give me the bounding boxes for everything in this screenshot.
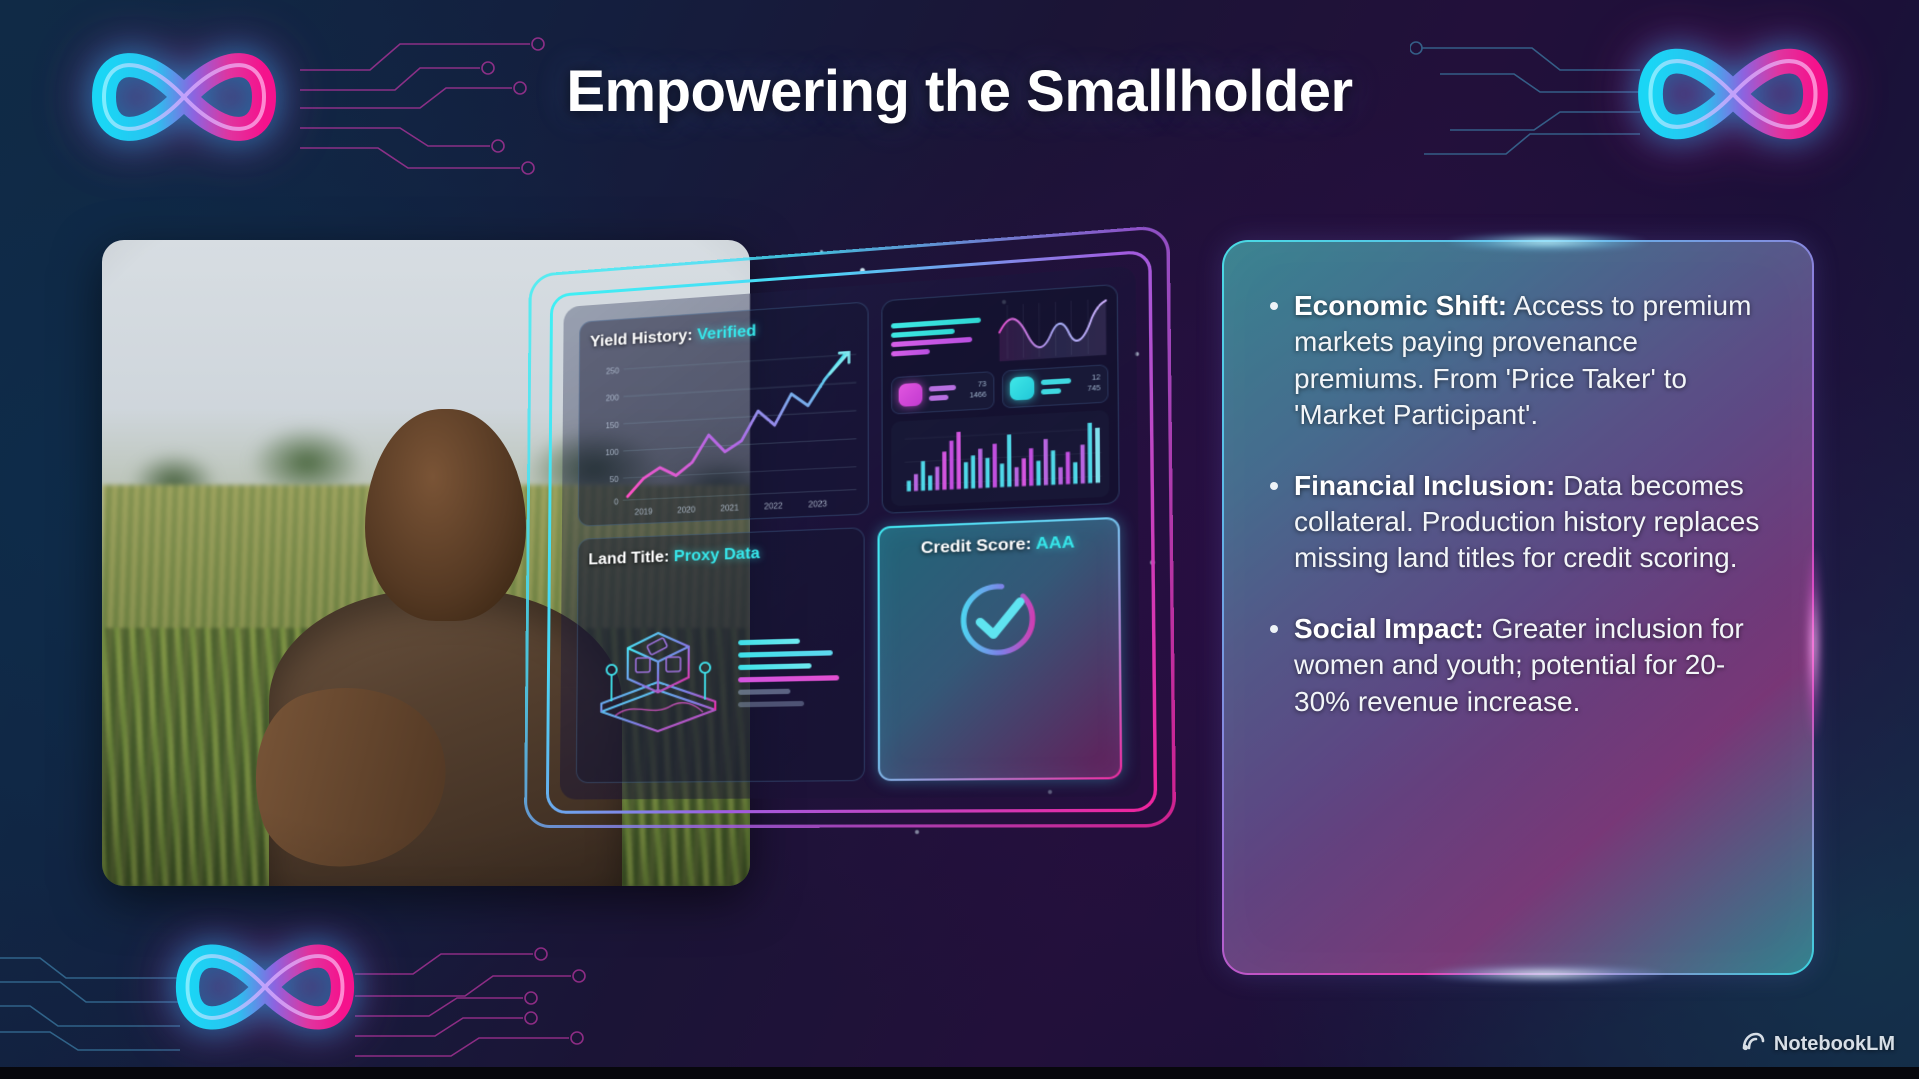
yield-label: Yield History:	[590, 327, 693, 351]
legend-bar	[891, 348, 930, 356]
svg-text:2021: 2021	[720, 503, 739, 513]
page-title: Empowering the Smallholder	[0, 58, 1919, 125]
infinity-logo-bottom-left	[110, 912, 420, 1062]
wave-trend-chart	[997, 294, 1108, 364]
stat-line	[928, 385, 956, 392]
stat-tile-magenta[interactable]: 731466	[891, 371, 995, 415]
record-bar	[738, 650, 832, 657]
bullet-dot	[1270, 625, 1278, 633]
record-bar	[738, 700, 804, 706]
record-bar	[738, 688, 790, 694]
land-label: Land Title:	[588, 548, 669, 568]
svg-text:2019: 2019	[635, 507, 653, 517]
legend-bar	[891, 336, 973, 346]
key-point-item: Economic Shift: Access to premium market…	[1258, 288, 1772, 434]
svg-text:2023: 2023	[808, 499, 827, 510]
svg-text:200: 200	[606, 393, 620, 403]
stat-tile-lines	[1041, 378, 1081, 395]
credit-score-panel[interactable]: Credit Score: AAA	[878, 517, 1123, 781]
record-bar	[738, 663, 811, 670]
card-glow-top	[1447, 233, 1647, 251]
credit-value: AAA	[1036, 534, 1075, 554]
analytics-panel[interactable]: 731466 12745	[881, 284, 1120, 514]
record-bar	[738, 675, 839, 682]
land-record-bars	[738, 637, 853, 707]
stat-tile-icon	[898, 383, 922, 407]
volume-bar-chart	[891, 410, 1110, 506]
holographic-dashboard: Yield History: Verified	[546, 249, 1158, 813]
yield-value: Verified	[697, 322, 756, 343]
key-point-lead: Social Impact:	[1294, 613, 1484, 644]
bullet-dot	[1270, 302, 1278, 310]
yield-history-chart: 250200 150100 500 20192020 20212022 2023	[589, 344, 859, 519]
land-title-panel[interactable]: Land Title: Proxy Data	[576, 527, 865, 783]
notebooklm-footer: NotebookLM	[1741, 1031, 1895, 1057]
stat-tile-icon	[1010, 376, 1035, 401]
notebooklm-wordmark: NotebookLM	[1774, 1033, 1895, 1056]
svg-text:50: 50	[610, 475, 619, 485]
svg-text:2022: 2022	[764, 501, 783, 512]
analytics-legend-bars	[891, 316, 989, 356]
stat-line	[928, 395, 948, 401]
card-glow-right	[1806, 549, 1822, 739]
slide-root: Empowering the Smallholder Yield Histo	[0, 0, 1919, 1079]
bullet-dot	[1270, 482, 1278, 490]
stat-tile-value: 12745	[1087, 373, 1100, 396]
sparkle	[915, 830, 919, 834]
key-points-list: Economic Shift: Access to premium market…	[1258, 288, 1772, 720]
svg-text:250: 250	[606, 366, 620, 376]
dashboard-surface: Yield History: Verified	[560, 266, 1141, 800]
yield-history-panel[interactable]: Yield History: Verified	[578, 301, 869, 526]
key-point-item: Social Impact: Greater inclusion for wom…	[1258, 611, 1772, 720]
svg-text:150: 150	[606, 420, 620, 430]
notebooklm-arc-icon	[1741, 1031, 1765, 1057]
stat-tile-cyan[interactable]: 12745	[1002, 364, 1109, 408]
circle-check-icon	[946, 569, 1049, 675]
record-bar	[738, 638, 800, 645]
legend-bar	[891, 328, 955, 337]
credit-panel-title: Credit Score: AAA	[921, 534, 1075, 559]
land-panel-title: Land Title: Proxy Data	[588, 541, 853, 569]
stat-tile-value: 731466	[969, 380, 986, 403]
land-value: Proxy Data	[674, 545, 760, 566]
legend-bar	[891, 317, 981, 328]
key-point-lead: Financial Inclusion:	[1294, 470, 1555, 501]
key-points-card: Economic Shift: Access to premium market…	[1222, 240, 1814, 975]
isometric-land-parcel-icon	[589, 613, 728, 737]
stat-line	[1041, 378, 1071, 385]
stat-tile-lines	[928, 385, 962, 402]
key-point-lead: Economic Shift:	[1294, 290, 1507, 321]
card-glow-bottom	[1424, 965, 1664, 983]
svg-text:0: 0	[614, 497, 619, 507]
key-point-item: Financial Inclusion: Data becomes collat…	[1258, 468, 1772, 577]
credit-label: Credit Score:	[921, 535, 1032, 557]
stat-line	[1041, 388, 1062, 394]
svg-text:2020: 2020	[677, 505, 696, 515]
svg-text:100: 100	[605, 447, 619, 457]
